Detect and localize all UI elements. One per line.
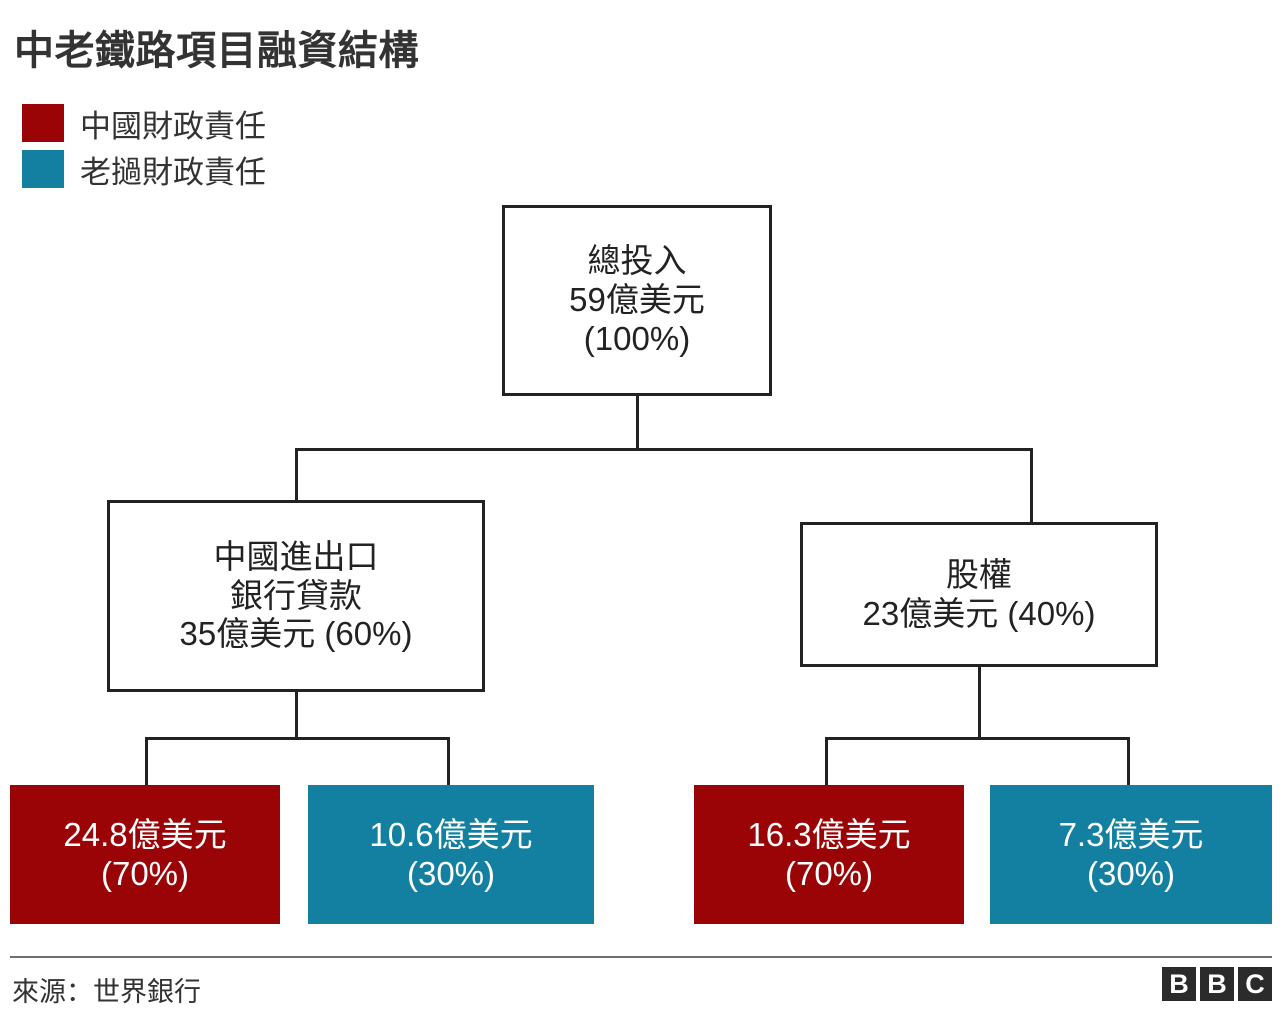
node-equity-laos-share: 7.3億美元 (30%) — [990, 785, 1272, 924]
node-equity-china-share: 16.3億美元 (70%) — [694, 785, 964, 924]
connector-loan-to-laos — [447, 737, 450, 787]
node-equity-china-amount: 16.3億美元 — [747, 816, 910, 855]
node-total-line3: (100%) — [584, 320, 690, 359]
bbc-logo-letter-b1: B — [1162, 967, 1196, 1001]
legend-label-china: 中國財政責任 — [80, 101, 266, 146]
node-equity-laos-percent: (30%) — [1087, 855, 1175, 894]
connector-loan-down — [295, 692, 298, 740]
legend: 中國財政責任 老撾財政責任 — [22, 100, 266, 192]
node-loan-china-share: 24.8億美元 (70%) — [10, 785, 280, 924]
node-equity-china-percent: (70%) — [785, 855, 873, 894]
node-equity: 股權 23億美元 (40%) — [800, 522, 1158, 667]
legend-item-china: 中國財政責任 — [22, 100, 266, 146]
connector-total-down — [636, 396, 639, 450]
node-equity-line2: 23億美元 (40%) — [863, 595, 1096, 634]
node-loan-line1: 中國進出口 — [214, 538, 379, 577]
node-loan-laos-percent: (30%) — [407, 855, 495, 894]
connector-equity-to-laos — [1127, 737, 1130, 787]
node-total-line1: 總投入 — [588, 242, 687, 281]
connector-to-loan — [295, 448, 298, 502]
page-title: 中老鐵路項目融資結構 — [14, 18, 419, 76]
node-loan-china-percent: (70%) — [101, 855, 189, 894]
bbc-logo-letter-c: C — [1238, 967, 1272, 1001]
node-exim-bank-loan: 中國進出口 銀行貸款 35億美元 (60%) — [107, 500, 485, 692]
footer-divider — [10, 956, 1272, 958]
node-total-line2: 59億美元 — [569, 281, 705, 320]
connector-loan-bar — [145, 737, 450, 740]
bbc-logo: B B C — [1162, 967, 1272, 1001]
node-loan-laos-amount: 10.6億美元 — [369, 816, 532, 855]
node-loan-line3: 35億美元 (60%) — [180, 615, 413, 654]
node-loan-line2: 銀行貸款 — [230, 577, 362, 616]
bbc-logo-letter-b2: B — [1200, 967, 1234, 1001]
connector-equity-down — [978, 667, 981, 740]
node-loan-china-amount: 24.8億美元 — [63, 816, 226, 855]
legend-swatch-red-icon — [22, 104, 64, 142]
node-equity-line1: 股權 — [946, 556, 1012, 595]
legend-swatch-teal-icon — [22, 150, 64, 188]
legend-item-laos: 老撾財政責任 — [22, 146, 266, 192]
source-text: 來源：世界銀行 — [12, 970, 201, 1009]
connector-to-equity — [1030, 448, 1033, 524]
node-total-investment: 總投入 59億美元 (100%) — [502, 205, 772, 396]
connector-level1-bar — [295, 448, 1033, 451]
node-loan-laos-share: 10.6億美元 (30%) — [308, 785, 594, 924]
node-equity-laos-amount: 7.3億美元 — [1059, 816, 1204, 855]
connector-equity-to-china — [825, 737, 828, 787]
legend-label-laos: 老撾財政責任 — [80, 147, 266, 192]
connector-equity-bar — [825, 737, 1130, 740]
connector-loan-to-china — [145, 737, 148, 787]
